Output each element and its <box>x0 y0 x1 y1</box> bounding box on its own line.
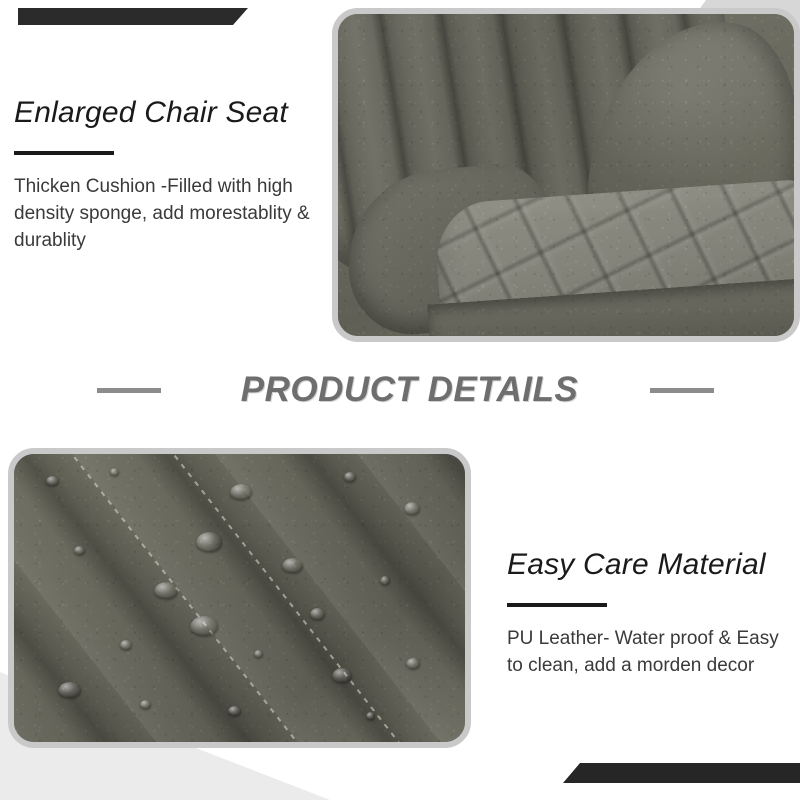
product-detail-page: Enlarged Chair Seat Thicken Cushion -Fil… <box>0 0 800 800</box>
feature-description: Thicken Cushion -Filled with high densit… <box>14 174 314 255</box>
bottom-right-accent-bar <box>563 763 800 783</box>
chair-seat-photo <box>332 8 800 342</box>
water-repellent-photo <box>8 448 471 748</box>
feature-title: Enlarged Chair Seat <box>14 96 314 129</box>
leather-grain-texture <box>14 454 465 742</box>
title-underline-rule <box>507 603 607 607</box>
title-underline-rule <box>14 151 114 155</box>
feature-block-easy-care-material: Easy Care Material PU Leather- Water pro… <box>507 548 787 680</box>
top-left-accent-bar <box>18 8 248 25</box>
feature-title: Easy Care Material <box>507 548 787 581</box>
section-heading-text: PRODUCT DETAILS <box>241 370 578 410</box>
heading-dash-left <box>97 388 161 393</box>
section-heading: PRODUCT DETAILS <box>0 368 800 412</box>
heading-dash-right <box>650 388 714 393</box>
water-repellent-photo-inner <box>14 454 465 742</box>
feature-block-enlarged-chair-seat: Enlarged Chair Seat Thicken Cushion -Fil… <box>14 96 314 255</box>
chair-seat-photo-inner <box>338 14 794 336</box>
feature-description: PU Leather- Water proof & Easy to clean,… <box>507 626 787 680</box>
leather-grain-texture <box>338 14 794 336</box>
